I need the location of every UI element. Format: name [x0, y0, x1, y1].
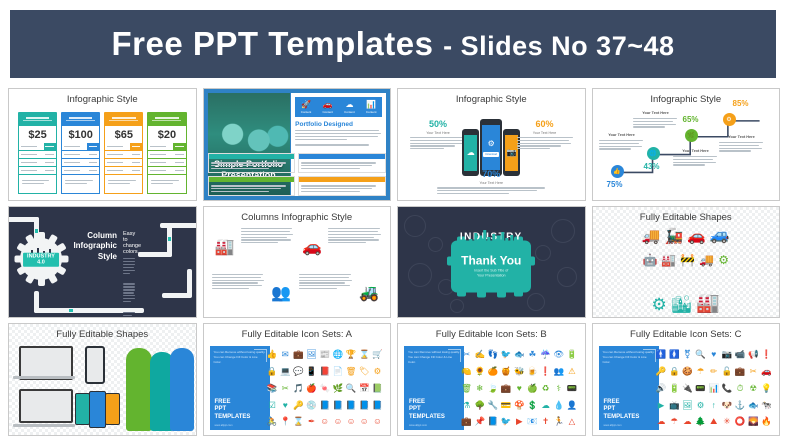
- free-ppt-card: You can Remove without losing quality. Y…: [210, 346, 270, 430]
- icon[interactable]: ☘: [529, 350, 537, 359]
- icon[interactable]: ↑: [712, 401, 716, 410]
- icon[interactable]: ☂: [697, 367, 705, 376]
- slide-thumbnail-staircase[interactable]: Infographic Style 👍 75% Your Text Here 🌐…: [592, 88, 781, 201]
- step-percent: 65%: [683, 115, 699, 124]
- slide-grid: Infographic Style $25 $100: [8, 88, 780, 436]
- slide-thumbnail-icon-set-c[interactable]: Fully Editable Icon Sets: C You can Remo…: [592, 323, 781, 436]
- icon[interactable]: 💲: [527, 401, 538, 410]
- slide-title: Fully Editable Shapes: [593, 212, 780, 223]
- icon[interactable]: ☺: [320, 417, 329, 426]
- businessman-blue-icon[interactable]: [170, 348, 194, 431]
- robot-arm-icon[interactable]: 🤖: [642, 253, 657, 267]
- icon[interactable]: 🐟: [748, 401, 759, 410]
- icon[interactable]: 💬: [293, 367, 304, 376]
- icon-row: 💼 📌 📘 🐦 ▶ 📧 ✝ 🏃 △: [460, 413, 579, 430]
- card-url: www.allppt.com: [604, 424, 622, 427]
- icon[interactable]: ✂: [750, 367, 757, 376]
- slide-thumbnail-portfolio[interactable]: Simple Portfolio Presentation 🚀Content 🚗…: [203, 88, 392, 201]
- price-value: $100: [61, 126, 100, 143]
- icon[interactable]: 🍺: [527, 367, 538, 376]
- price-value: $20: [147, 126, 186, 143]
- content-box[interactable]: [208, 153, 296, 173]
- icon[interactable]: 🛒: [372, 350, 383, 359]
- pipe-segment: [138, 252, 172, 257]
- free-ppt-card: You can Remove without losing quality. Y…: [404, 346, 464, 430]
- icon[interactable]: 🐝: [514, 367, 525, 376]
- price-value: $25: [18, 126, 57, 143]
- laptop-icon[interactable]: [19, 346, 73, 380]
- slide-title: Fully Editable Shapes: [9, 329, 196, 340]
- icon-grid: 🚹 🚺 ⚧ 🔍 ♥ 📷 📹 📢 ❗ 🔑 🔒 🍪 ☂: [655, 346, 774, 430]
- icon[interactable]: 🌳: [474, 401, 485, 410]
- icon[interactable]: ✂: [463, 350, 470, 359]
- content-box[interactable]: [298, 176, 386, 196]
- slide-title: Fully Editable Icon Sets: C: [593, 329, 780, 340]
- icon[interactable]: ☁: [683, 417, 692, 426]
- icon[interactable]: ⚙: [374, 367, 382, 376]
- column-heading: Column Infographic Style: [71, 231, 117, 263]
- banner-title: Free PPT Templates - Slides No 37~48: [111, 25, 674, 63]
- slide-title: Infographic Style: [398, 94, 585, 105]
- icon[interactable]: 📷: [722, 350, 733, 359]
- icon[interactable]: 🐶: [722, 401, 733, 410]
- slide-thumbnail-columns[interactable]: Columns Infographic Style 🏭 🚗: [203, 206, 392, 319]
- pipes-icon[interactable]: 🏭: [661, 253, 676, 267]
- icon-grid: ✂ ✍ 👣 🐦 🐟 ☘ ☔ 👁 🔋 🍋 🌻 🍊 🍯: [460, 346, 579, 430]
- icon[interactable]: 🔍: [695, 350, 706, 359]
- icon[interactable]: 🗑: [461, 384, 472, 393]
- train-icon[interactable]: 🚂: [664, 227, 683, 245]
- icon[interactable]: 📅: [359, 384, 370, 393]
- icon-row: ✂ ✍ 👣 🐦 🐟 ☘ ☔ 👁 🔋: [460, 346, 579, 363]
- icon[interactable]: 💻: [280, 367, 291, 376]
- icon[interactable]: 📰: [319, 350, 330, 359]
- icon[interactable]: 🔌: [682, 384, 693, 393]
- step-percent: 43%: [644, 162, 660, 171]
- icon[interactable]: 📞: [722, 384, 733, 393]
- step-text: Your Text Here: [599, 133, 645, 151]
- icon[interactable]: 🍯: [501, 367, 512, 376]
- step-text: Your Text Here: [719, 135, 765, 153]
- icon[interactable]: ▶: [658, 401, 665, 410]
- stat-percent: 70%: [431, 169, 551, 179]
- card-brand: FREE PPT TEMPLATES: [215, 399, 251, 422]
- portfolio-subline: [295, 144, 382, 145]
- icon[interactable]: △: [569, 417, 576, 426]
- icon[interactable]: ☑: [268, 401, 276, 410]
- gear-shape: Thank You Insert the Sub Title of Your P…: [451, 240, 531, 292]
- card-brand: FREE PPT TEMPLATES: [409, 399, 445, 422]
- icon[interactable]: ☺: [334, 417, 343, 426]
- thumbs-up-icon[interactable]: 👍: [611, 165, 624, 178]
- icon[interactable]: ⚧: [684, 350, 691, 359]
- icon[interactable]: 🎵: [293, 384, 304, 393]
- icon[interactable]: 🐟: [514, 350, 525, 359]
- car-icon: 🚗: [299, 227, 325, 268]
- icon[interactable]: ✉: [282, 350, 289, 359]
- icon-bar: 🚀Content 🚗Content ☁Content 📊Content: [295, 97, 382, 117]
- icon[interactable]: 🌲: [695, 417, 706, 426]
- icon[interactable]: 📘: [488, 417, 499, 426]
- icon[interactable]: 🔓: [722, 367, 733, 376]
- cloud-icon: ☁: [464, 135, 477, 171]
- icon[interactable]: 📢: [748, 350, 759, 359]
- icon[interactable]: 🔑: [656, 367, 667, 376]
- icon[interactable]: ✳: [723, 417, 730, 426]
- icon[interactable]: 🍬: [319, 384, 330, 393]
- forklift-icon[interactable]: 🚚: [642, 227, 661, 245]
- icon[interactable]: ✍: [474, 350, 485, 359]
- icon[interactable]: ❗: [540, 367, 551, 376]
- gear-icon: ⚙ Download: [482, 125, 500, 170]
- icon[interactable]: 🚴: [267, 417, 278, 426]
- icon[interactable]: 📘: [359, 401, 370, 410]
- icon[interactable]: 🐦: [501, 417, 512, 426]
- slide-thumbnail-column-industry[interactable]: INDUSTRY 4.0 Column Infographic Style Ea…: [8, 206, 197, 319]
- banner-title-main: Free PPT Templates: [111, 25, 433, 62]
- pricing-header: [104, 112, 143, 126]
- icon[interactable]: ☺: [373, 417, 382, 426]
- icon-row: 👍 ✉ 💼 🖼 📰 🌐 🏆 ⌛ 🛒: [266, 346, 385, 363]
- slide-thumbnail-shapes-industrial[interactable]: Fully Editable Shapes 🚚 🚂 🚗 🚙 🤖 🏭 🚧 🚚 ⚙ …: [592, 206, 781, 319]
- phone-orange-icon[interactable]: [105, 393, 120, 425]
- conveyor-icon[interactable]: 🚚: [699, 253, 714, 267]
- stat-label: Your Text Here: [431, 181, 551, 185]
- slide-title: Infographic Style: [593, 94, 780, 105]
- factory-icon: 🏭: [212, 227, 238, 268]
- icon[interactable]: 🔑: [293, 401, 304, 410]
- header-banner: Free PPT Templates - Slides No 37~48: [10, 10, 776, 78]
- pricing-column[interactable]: $100: [61, 112, 100, 194]
- pricing-column[interactable]: $25: [18, 112, 57, 194]
- slide-title: Fully Editable Icon Sets: B: [398, 329, 585, 340]
- icon[interactable]: ⭕: [735, 417, 746, 426]
- column-item[interactable]: 🚜: [299, 272, 382, 313]
- slide-thumbnail-phones[interactable]: Infographic Style 50% Your Text Here ☁: [397, 88, 586, 201]
- phone-blue-icon[interactable]: [89, 391, 106, 428]
- icon[interactable]: ✒: [308, 417, 315, 426]
- icon[interactable]: 🐦: [501, 350, 512, 359]
- icon-row: 🔒 💻 💬 📱 📕 📄 🗑 🏷 ⚙: [266, 363, 385, 380]
- icon[interactable]: ☺: [347, 417, 356, 426]
- leaf-icon[interactable]: 🌿: [685, 129, 698, 142]
- column-item[interactable]: 👥: [212, 272, 295, 313]
- car-top-icon[interactable]: 🚙: [710, 225, 730, 245]
- slide-thumbnail-icon-set-b[interactable]: Fully Editable Icon Sets: B You can Remo…: [397, 323, 586, 436]
- bottom-stat-block: 70% Your Text Here: [431, 169, 551, 195]
- phone-teal-icon[interactable]: [75, 393, 90, 425]
- slide-thumbnail-thank-you[interactable]: INDUSTRY Thank You: [397, 206, 586, 319]
- icon[interactable]: 🚺: [669, 350, 680, 359]
- icon[interactable]: 🍃: [488, 384, 499, 393]
- gear-icon[interactable]: ⚙: [723, 113, 736, 126]
- portfolio-heading: Portfolio Designed: [295, 121, 382, 128]
- card-brand: FREE PPT TEMPLATES: [604, 399, 640, 422]
- factory-icon[interactable]: 🏭: [696, 291, 720, 315]
- icon[interactable]: 🚹: [656, 350, 667, 359]
- icon-row: 🍋 🌻 🍊 🍯 🐝 🍺 ❗ 👥 ⚠: [460, 363, 579, 380]
- card-url: www.allppt.com: [409, 424, 427, 427]
- icon[interactable]: ❄: [476, 384, 483, 393]
- laptop-base: [13, 424, 75, 427]
- content-box[interactable]: [298, 153, 386, 173]
- icon[interactable]: 🖼: [306, 350, 317, 359]
- icon[interactable]: 📌: [474, 417, 485, 426]
- icon[interactable]: 🏷: [359, 367, 370, 376]
- icon[interactable]: 📘: [319, 401, 330, 410]
- chart-icon[interactable]: 📊Content: [360, 97, 382, 117]
- icon[interactable]: 🐄: [761, 401, 772, 410]
- icon-row: ▶ 📺 🖼 ⚙ ↑ 🐶 ⚓ 🐟 🐄: [655, 397, 774, 414]
- icon-row: ☑ ♥ 🔑 💿 📘 📘 📘 📘 📘: [266, 397, 385, 414]
- pipe-segment: [160, 223, 196, 228]
- step-text: Your Text Here: [633, 111, 679, 129]
- step-percent: 85%: [733, 99, 749, 108]
- icon[interactable]: 📟: [567, 384, 578, 393]
- step-percent: 75%: [607, 180, 623, 189]
- icon[interactable]: 💼: [461, 417, 472, 426]
- icon[interactable]: 💼: [293, 350, 304, 359]
- icon[interactable]: 🔒: [267, 367, 278, 376]
- content-box-group: [208, 153, 387, 196]
- pricing-table-group: $25 $100: [18, 112, 187, 194]
- icon[interactable]: 🏃: [553, 417, 564, 426]
- slide-title: Infographic Style: [9, 94, 196, 105]
- icon[interactable]: 🍪: [682, 367, 693, 376]
- industry-badge: INDUSTRY 4.0: [23, 252, 59, 267]
- icon-row: 🔑 🔒 🍪 ☂ ✏ 🔓 💼 ✂ 🚗: [655, 363, 774, 380]
- icon[interactable]: 💼: [735, 367, 746, 376]
- icon[interactable]: 🍏: [527, 384, 538, 393]
- column-body: Easy to change colors.: [123, 231, 136, 318]
- slide-title: Columns Infographic Style: [204, 212, 391, 223]
- icon[interactable]: 🍋: [461, 367, 472, 376]
- businessman-green-icon[interactable]: [126, 348, 152, 431]
- icon[interactable]: 💿: [306, 401, 317, 410]
- icon[interactable]: 📘: [346, 401, 357, 410]
- smartphone-icon[interactable]: [85, 346, 105, 384]
- icon[interactable]: 💧: [553, 401, 564, 410]
- stat-percent: 60%: [509, 119, 581, 129]
- thank-you-text: Thank You: [461, 254, 521, 268]
- icon[interactable]: 🔋: [669, 384, 680, 393]
- skyline-icon[interactable]: 🏙: [671, 295, 693, 315]
- icon[interactable]: ♻: [542, 384, 550, 393]
- icon[interactable]: 💼: [501, 384, 512, 393]
- icon[interactable]: ⌛: [359, 350, 370, 359]
- shape-row-3: ⚙ 🏙 🏭: [599, 291, 774, 315]
- icon[interactable]: 🍊: [488, 367, 499, 376]
- icon[interactable]: 📚: [267, 384, 278, 393]
- icon[interactable]: ☢: [749, 384, 757, 393]
- icon[interactable]: 🏆: [346, 350, 357, 359]
- icon[interactable]: 👍: [267, 350, 278, 359]
- slide-title: Fully Editable Icon Sets: A: [204, 329, 391, 340]
- body-heading: Easy to change colors.: [123, 231, 136, 255]
- icon-row: ☁ ☂ ☁ 🌲 ⛰ ✳ ⭕ 🌄 🔥: [655, 413, 774, 430]
- icon[interactable]: 📺: [669, 401, 680, 410]
- car-icon[interactable]: 🚗Content: [317, 97, 339, 117]
- icon[interactable]: ☁: [657, 417, 666, 426]
- download-button[interactable]: Download: [483, 152, 499, 157]
- icon[interactable]: ♥: [283, 401, 288, 410]
- card-url: www.allppt.com: [215, 424, 233, 427]
- icon-row: ⚗ 🌳 🔧 💳 🍄 💲 ☁ 💧 👤: [460, 397, 579, 414]
- icon-row: 🚴 📍 ⌛ ✒ ☺ ☺ ☺ ☺ ☺: [266, 413, 385, 430]
- free-ppt-card: You can Remove without losing quality. Y…: [599, 346, 659, 430]
- icon[interactable]: 📄: [333, 367, 344, 376]
- laptop-base: [13, 376, 75, 379]
- pricing-column[interactable]: $20: [147, 112, 186, 194]
- rocket-icon[interactable]: 🚀Content: [295, 97, 317, 117]
- icon[interactable]: 📟: [695, 384, 706, 393]
- sedan-car-icon[interactable]: 🚗: [687, 227, 706, 245]
- banner-title-sub: - Slides No 37~48: [443, 31, 674, 61]
- icon[interactable]: ❗: [761, 350, 772, 359]
- icon[interactable]: 🔒: [669, 367, 680, 376]
- icon[interactable]: 📘: [372, 401, 383, 410]
- icon[interactable]: 🔋: [567, 350, 578, 359]
- icon[interactable]: 🔍: [346, 384, 357, 393]
- icon[interactable]: ⛰: [710, 417, 717, 426]
- phone-center[interactable]: ⚙ Download: [480, 119, 502, 176]
- icon[interactable]: ☁: [541, 401, 550, 410]
- thank-you-subtitle: Insert the Sub Title of Your Presentatio…: [474, 269, 508, 280]
- industry-gear-logo: INDUSTRY 4.0: [15, 233, 67, 285]
- icon[interactable]: 💳: [501, 401, 512, 410]
- icon[interactable]: 📧: [527, 417, 538, 426]
- pricing-header: [147, 112, 186, 126]
- icon[interactable]: ⚓: [735, 401, 746, 410]
- step-text: Your Text Here: [673, 149, 719, 167]
- icon[interactable]: 📍: [280, 417, 291, 426]
- icon[interactable]: 🔊: [656, 384, 667, 393]
- icon[interactable]: 🌻: [474, 367, 485, 376]
- icon[interactable]: ☔: [540, 350, 551, 359]
- pricing-header: [18, 112, 57, 126]
- column-item[interactable]: 🏭: [212, 227, 295, 268]
- content-box[interactable]: [208, 176, 296, 196]
- shape-row-1: 🚚 🚂 🚗 🚙: [599, 225, 774, 245]
- icon[interactable]: 📹: [735, 350, 746, 359]
- icon[interactable]: 📱: [306, 367, 317, 376]
- icon[interactable]: ⚠: [568, 367, 576, 376]
- laptop-icon[interactable]: [19, 389, 73, 423]
- gear-industry-icon[interactable]: ⚙: [651, 295, 666, 315]
- icon[interactable]: ♥: [517, 384, 522, 393]
- icon[interactable]: ▶: [516, 417, 523, 426]
- right-stat-block: 60% Your Text Here: [509, 119, 581, 151]
- icon-row: 🚹 🚺 ⚧ 🔍 ♥ 📷 📹 📢 ❗: [655, 346, 774, 363]
- pipe-segment: [162, 293, 192, 298]
- assembly-icon[interactable]: ⚙: [718, 253, 729, 267]
- excavator-icon: 🚜: [356, 272, 382, 313]
- icon[interactable]: 📘: [333, 401, 344, 410]
- staircase-stage: 👍 75% Your Text Here 🌐 43% Your Text Her…: [601, 107, 772, 196]
- icon-row: 🗑 ❄ 🍃 💼 ♥ 🍏 ♻ ⚕ 📟: [460, 380, 579, 397]
- slide-thumbnail-shapes-devices[interactable]: Fully Editable Shapes: [8, 323, 197, 436]
- icon[interactable]: ☂: [670, 417, 678, 426]
- cloud-icon[interactable]: ☁Content: [339, 97, 361, 117]
- icon[interactable]: ✝: [542, 417, 549, 426]
- crane-icon[interactable]: 🚧: [680, 253, 695, 267]
- icon[interactable]: 🔥: [761, 417, 772, 426]
- icon[interactable]: ⚙: [697, 401, 705, 410]
- icon[interactable]: 🔧: [488, 401, 499, 410]
- icon[interactable]: ⚕: [556, 384, 561, 393]
- icon[interactable]: 🖼: [682, 401, 693, 410]
- pricing-header: [61, 112, 100, 126]
- slide-thumbnail-icon-set-a[interactable]: Fully Editable Icon Sets: A You can Remo…: [203, 323, 392, 436]
- skyline-icon: [470, 229, 514, 247]
- icon[interactable]: ✏: [710, 367, 717, 376]
- icon[interactable]: 🍎: [306, 384, 317, 393]
- icon[interactable]: 👣: [488, 350, 499, 359]
- icon[interactable]: ⏱: [737, 384, 744, 393]
- icon[interactable]: 🌿: [333, 384, 344, 393]
- shape-row-2: 🤖 🏭 🚧 🚚 ⚙: [599, 253, 774, 267]
- icon[interactable]: 💡: [761, 384, 772, 393]
- icon[interactable]: ✂: [282, 384, 289, 393]
- icon[interactable]: 👁: [553, 350, 564, 359]
- icon[interactable]: ⌛: [293, 417, 304, 426]
- icon[interactable]: 🌄: [748, 417, 759, 426]
- slide-thumbnail-pricing[interactable]: Infographic Style $25 $100: [8, 88, 197, 201]
- icon-row: 🔊 🔋 🔌 📟 📊 📞 ⏱ ☢ 💡: [655, 380, 774, 397]
- workers-icon: 👥: [268, 272, 294, 313]
- icon[interactable]: 🗑: [346, 367, 357, 376]
- icon[interactable]: 🌐: [333, 350, 344, 359]
- icon[interactable]: 📕: [319, 367, 330, 376]
- icon[interactable]: 🍄: [514, 401, 525, 410]
- icon[interactable]: ☺: [360, 417, 369, 426]
- icon[interactable]: 🚗: [761, 367, 772, 376]
- icon[interactable]: ⚗: [463, 401, 471, 410]
- icon-row: 📚 ✂ 🎵 🍎 🍬 🌿 🔍 📅 📗: [266, 380, 385, 397]
- globe-icon[interactable]: 🌐: [647, 147, 660, 160]
- page-root: Free PPT Templates - Slides No 37~48 Inf…: [0, 0, 786, 445]
- column-item[interactable]: 🚗: [299, 227, 382, 268]
- icon[interactable]: 👤: [567, 401, 578, 410]
- icon[interactable]: ♥: [711, 350, 716, 359]
- icon-grid: 👍 ✉ 💼 🖼 📰 🌐 🏆 ⌛ 🛒 🔒 💻 💬: [266, 346, 385, 430]
- portfolio-body: [295, 130, 382, 140]
- price-value: $65: [104, 126, 143, 143]
- pricing-column[interactable]: $65: [104, 112, 143, 194]
- icon[interactable]: 📊: [708, 384, 719, 393]
- stat-label: Your Text Here: [509, 131, 581, 135]
- icon[interactable]: 📗: [372, 384, 383, 393]
- columns-grid: 🏭 🚗: [212, 227, 383, 314]
- icon[interactable]: 👥: [553, 367, 564, 376]
